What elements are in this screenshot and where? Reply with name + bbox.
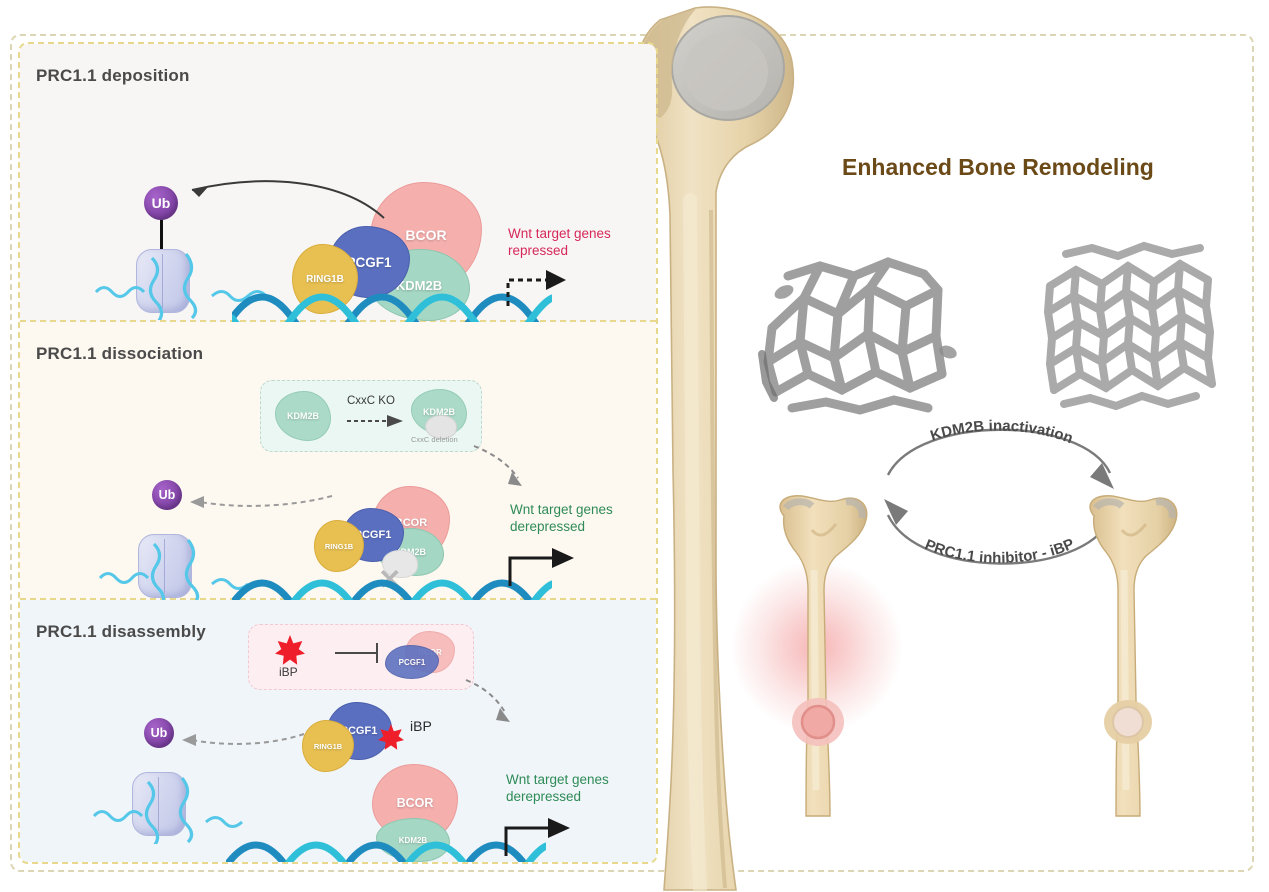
transcription-arrow-derepressed-dissociation — [504, 536, 590, 590]
callout-wnt-derepressed-disassembly: Wnt target genes derepressed — [506, 772, 646, 806]
callout-line-1: Wnt target genes — [506, 772, 609, 787]
inset-blob-kdm2b-wildtype: KDM2B — [275, 391, 331, 441]
small-bone-inflamed — [762, 490, 882, 820]
transcription-arrow-repressed — [502, 260, 582, 310]
cycle-bottom-label: PRC1.1 inhibitor - iBP — [922, 535, 1076, 566]
trabecular-bone-dense — [1030, 232, 1250, 422]
inset-sublabel-cxxc-deletion: CxxC deletion — [411, 435, 458, 444]
panel-title-dissociation: PRC1.1 dissociation — [36, 344, 203, 364]
svg-text:PRC1.1 inhibitor - iBP: PRC1.1 inhibitor - iBP — [922, 535, 1076, 566]
ibp-star-icon-inset — [275, 635, 305, 665]
inset-cxxc-knockout: KDM2B CxxC KO KDM2B CxxC deletion — [260, 380, 482, 452]
ubiquitination-arrow — [170, 174, 390, 234]
svg-text:KDM2B inactivation: KDM2B inactivation — [928, 417, 1075, 447]
panel-prc11-dissociation: PRC1.1 dissociation KDM2B CxxC KO KDM2B … — [20, 322, 656, 600]
panel-prc11-disassembly: PRC1.1 disassembly iBP BCOR PCGF1 Ub — [20, 600, 656, 864]
panel-title-disassembly: PRC1.1 disassembly — [36, 622, 206, 642]
callout-line-2: derepressed — [510, 519, 585, 534]
ibp-label-complex: iBP — [410, 718, 432, 736]
inset-ibp-label: iBP — [279, 665, 298, 679]
callout-line-1: Wnt target genes — [508, 226, 611, 241]
callout-line-1: Wnt target genes — [510, 502, 613, 517]
inset-to-complex-arrow-dissociation — [472, 442, 534, 492]
inset-blob-pcgf1: PCGF1 — [385, 645, 439, 679]
inset-ko-arrow — [345, 413, 407, 429]
ub-removal-arrow-dissociation — [186, 490, 334, 514]
small-bone-healed — [1072, 490, 1192, 820]
inset-operation-label: CxxC KO — [347, 395, 395, 407]
panel-prc11-deposition: PRC1.1 deposition Ub BCOR KDM2B PCGF1 RI… — [20, 44, 656, 322]
dna-double-helix-disassembly — [226, 832, 546, 864]
inset-ibp-inhibition: iBP BCOR PCGF1 — [248, 624, 474, 690]
callout-wnt-repressed: Wnt target genes repressed — [508, 226, 648, 260]
figure-root: PRC1.1 deposition Ub BCOR KDM2B PCGF1 RI… — [0, 0, 1269, 892]
protein-blob-ring1b-disassembly: RING1B — [302, 720, 354, 772]
mechanism-column: PRC1.1 deposition Ub BCOR KDM2B PCGF1 RI… — [18, 42, 658, 864]
panel-title-deposition: PRC1.1 deposition — [36, 66, 190, 86]
ub-removal-arrow-disassembly — [178, 728, 306, 752]
cycle-top-label: KDM2B inactivation — [928, 417, 1075, 447]
inhibition-bar-icon — [333, 641, 389, 665]
bone-remodeling-column: Enhanced Bone Remodeling — [700, 42, 1254, 864]
callout-line-2: repressed — [508, 243, 568, 258]
callout-line-2: derepressed — [506, 789, 581, 804]
ub-badge-dissociation: Ub — [152, 480, 182, 510]
protein-blob-ring1b-dissociation: RING1B — [314, 520, 364, 572]
trabecular-bone-sparse — [742, 232, 972, 422]
ub-badge-disassembly: Ub — [144, 718, 174, 748]
inset-to-complex-arrow-disassembly — [464, 676, 524, 728]
transcription-arrow-derepressed-disassembly — [500, 806, 586, 860]
bone-remodeling-title: Enhanced Bone Remodeling — [842, 154, 1154, 181]
callout-wnt-derepressed-dissociation: Wnt target genes derepressed — [510, 502, 650, 536]
